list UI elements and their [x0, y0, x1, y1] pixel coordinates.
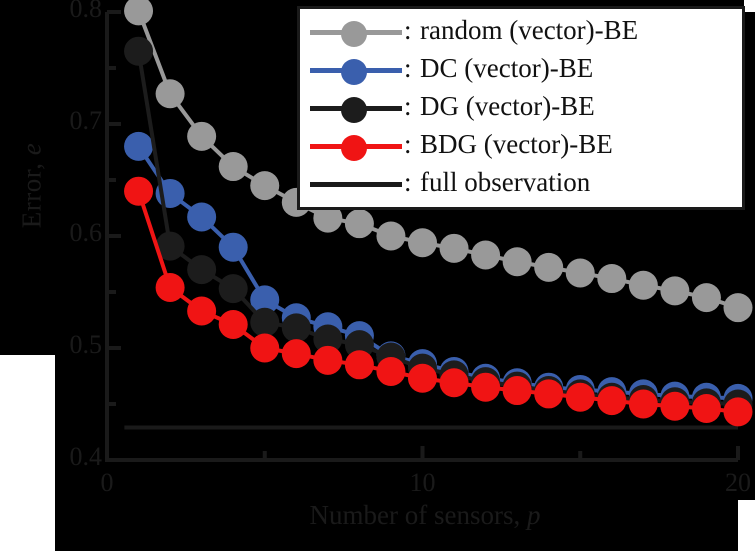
data-point: [219, 233, 248, 262]
legend-marker-swatch: [308, 51, 404, 89]
legend-item[interactable]: :random (vector)-BE: [308, 13, 734, 51]
data-point: [471, 241, 500, 270]
legend-label: BDG (vector)-BE: [420, 131, 613, 162]
legend-circle-icon: [341, 59, 367, 85]
legend-separator: :: [404, 93, 420, 124]
data-point: [313, 346, 342, 375]
legend-item[interactable]: :full observation: [308, 165, 734, 203]
data-point: [219, 274, 248, 303]
data-point: [629, 390, 658, 419]
data-point: [156, 79, 185, 108]
data-point: [282, 339, 311, 368]
data-point: [724, 293, 753, 322]
data-point: [597, 264, 626, 293]
data-point: [534, 253, 563, 282]
y-tick-label: 0.8: [20, 0, 102, 24]
x-axis-title: Number of sensors, p: [200, 500, 650, 531]
data-point: [629, 271, 658, 300]
legend-label: DC (vector)-BE: [420, 55, 593, 86]
data-point: [156, 273, 185, 302]
data-point: [219, 152, 248, 181]
legend-circle-icon: [341, 97, 367, 123]
data-point: [187, 297, 216, 326]
data-point: [124, 177, 153, 206]
data-point: [187, 122, 216, 151]
y-tick-label: 0.7: [20, 106, 102, 136]
legend-item[interactable]: :DC (vector)-BE: [308, 51, 734, 89]
data-point: [124, 132, 153, 161]
y-axis-title-symbol: e: [17, 143, 47, 155]
data-point: [566, 383, 595, 412]
legend-label: DG (vector)-BE: [420, 93, 595, 124]
legend-label: full observation: [420, 169, 590, 200]
x-tick-label: 10: [397, 468, 449, 498]
legend-label: random (vector)-BE: [420, 17, 638, 48]
data-point: [376, 222, 405, 251]
data-point: [250, 334, 279, 363]
y-tick-label: 0.4: [20, 442, 102, 472]
legend-marker-swatch: [308, 13, 404, 51]
x-tick-label: 20: [712, 468, 755, 498]
legend-separator: :: [404, 131, 420, 162]
legend-item[interactable]: :DG (vector)-BE: [308, 89, 734, 127]
data-point: [724, 397, 753, 426]
data-point: [187, 202, 216, 231]
data-point: [345, 350, 374, 379]
data-point: [534, 379, 563, 408]
data-point: [692, 394, 721, 423]
data-point: [503, 247, 532, 276]
data-point: [503, 376, 532, 405]
chart-legend: :random (vector)-BE:DC (vector)-BE:DG (v…: [297, 6, 745, 210]
legend-marker-swatch: [308, 165, 404, 203]
series-bdg: [124, 177, 752, 427]
data-point: [376, 357, 405, 386]
data-point: [187, 255, 216, 284]
legend-separator: :: [404, 55, 420, 86]
y-tick-label: 0.5: [20, 330, 102, 360]
legend-separator: :: [404, 17, 420, 48]
data-point: [471, 373, 500, 402]
legend-marker-swatch: [308, 127, 404, 165]
data-point: [408, 228, 437, 257]
data-point: [250, 171, 279, 200]
legend-item[interactable]: :BDG (vector)-BE: [308, 127, 734, 165]
data-point: [692, 283, 721, 312]
data-point: [345, 209, 374, 238]
x-tick-label: 0: [81, 468, 133, 498]
data-point: [124, 0, 153, 25]
data-point: [440, 368, 469, 397]
legend-circle-icon: [341, 21, 367, 47]
data-point: [440, 234, 469, 263]
x-axis-title-text: Number of sensors,: [310, 500, 527, 530]
legend-line-icon: [310, 182, 402, 187]
figure-container: Error, e Number of sensors, p 010200.40.…: [0, 0, 755, 551]
data-point: [566, 258, 595, 287]
data-point: [282, 313, 311, 342]
data-point: [408, 364, 437, 393]
data-point: [660, 276, 689, 305]
data-point: [124, 37, 153, 66]
x-axis-title-symbol: p: [527, 500, 541, 530]
data-point: [660, 392, 689, 421]
data-point: [219, 310, 248, 339]
legend-marker-swatch: [308, 89, 404, 127]
data-point: [597, 386, 626, 415]
y-tick-label: 0.6: [20, 218, 102, 248]
legend-separator: :: [404, 169, 420, 200]
legend-circle-icon: [341, 135, 367, 161]
data-point: [250, 308, 279, 337]
